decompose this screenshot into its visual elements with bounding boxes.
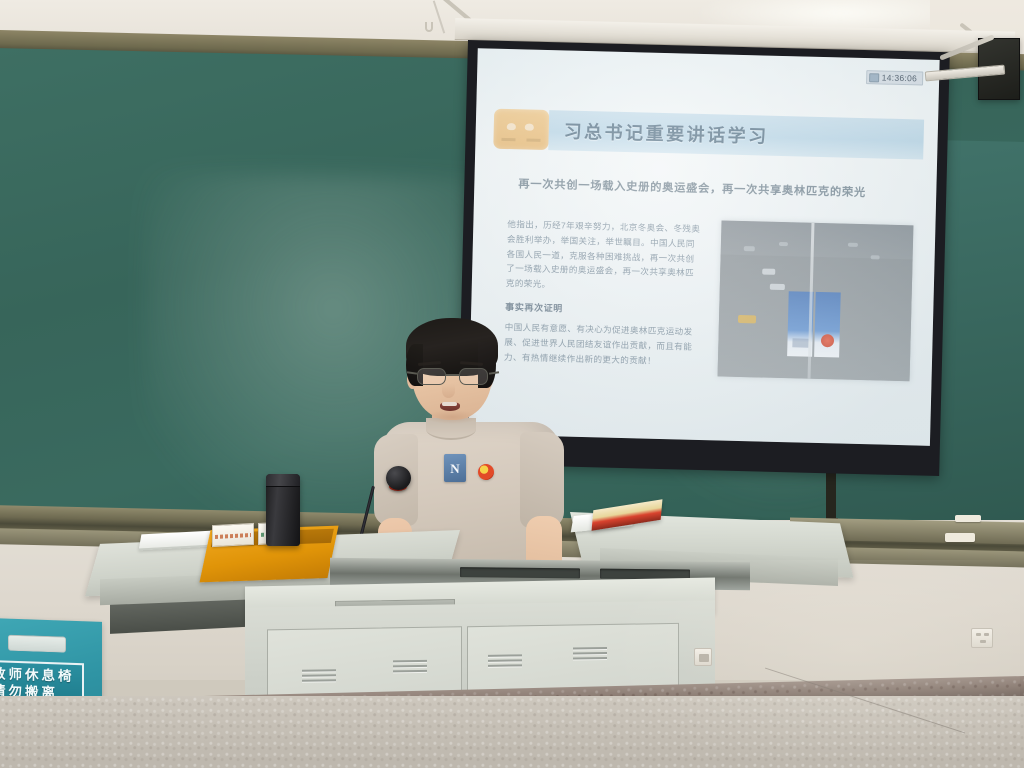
socket-slot — [984, 633, 989, 636]
lens-right — [459, 368, 488, 385]
chin-shadow — [426, 410, 478, 424]
photo-taxi — [738, 315, 756, 323]
slide-photo — [718, 220, 914, 381]
lens-left — [417, 368, 446, 385]
photo-car — [744, 246, 755, 251]
wall-socket[interactable] — [971, 628, 993, 648]
osd-timestamp: 14:36:06 — [866, 70, 924, 85]
chalk-box-label — [215, 533, 251, 539]
vent-slots — [488, 654, 522, 671]
shirt-badge-letter: N — [450, 462, 459, 475]
black-vacuum-flask — [266, 474, 300, 546]
vent-slots — [393, 660, 427, 677]
chalk-box-package — [212, 523, 254, 547]
microphone-head[interactable] — [386, 466, 411, 490]
terrazzo-floor — [0, 696, 1024, 768]
osd-time-text: 14:36:06 — [882, 72, 918, 83]
photo-car — [848, 242, 858, 246]
badge-dot-left — [507, 123, 516, 130]
vent-slots — [573, 647, 607, 664]
photo-car — [870, 255, 879, 259]
national-flag-pin-icon — [478, 464, 494, 480]
screen-capture-icon — [869, 73, 879, 82]
photo-car — [770, 284, 785, 290]
photo-banner-seal — [820, 334, 833, 347]
classroom-scene: 14:36:06 习总书记重要讲话学习 再一次共创一场载入史册的奥运盛会，再一次… — [0, 0, 1024, 768]
dual-dot-badge-icon — [493, 109, 549, 150]
glasses-bridge — [446, 374, 460, 376]
photo-banner-text — [792, 338, 808, 347]
chalk-piece — [955, 515, 981, 522]
photo-car — [778, 242, 787, 246]
sleeve-right — [520, 432, 564, 528]
photo-car — [762, 268, 775, 274]
badge-dot-right — [525, 123, 534, 130]
teeth — [442, 402, 457, 406]
screen-hook-left — [425, 22, 433, 32]
socket-slot — [980, 640, 986, 643]
nose — [442, 384, 455, 398]
shirt-badge: N — [444, 454, 466, 482]
wall-switch[interactable] — [694, 648, 712, 666]
flask-cap — [266, 474, 300, 487]
slide-headline: 再一次共创一场载入史册的奥运盛会，再一次共享奥林匹克的荣光 — [518, 177, 918, 202]
photo-banner-right — [814, 292, 841, 358]
badge-underline-marks — [501, 138, 540, 143]
rail-slot — [460, 567, 580, 578]
chalk-piece — [945, 533, 975, 542]
slide-paragraph-1: 他指出，历经7年艰辛努力，北京冬奥会、冬残奥会胜利举办，举国关注，举世瞩目。中国… — [506, 219, 701, 289]
slide-title: 习总书记重要讲话学习 — [563, 117, 769, 148]
socket-slot — [976, 633, 981, 636]
switch-rocker — [699, 654, 709, 662]
slide-title-row: 习总书记重要讲话学习 — [493, 109, 924, 160]
vent-slots — [302, 669, 336, 686]
slide-title-bar: 习总书记重要讲话学习 — [548, 110, 924, 159]
sign-handle — [8, 635, 66, 653]
